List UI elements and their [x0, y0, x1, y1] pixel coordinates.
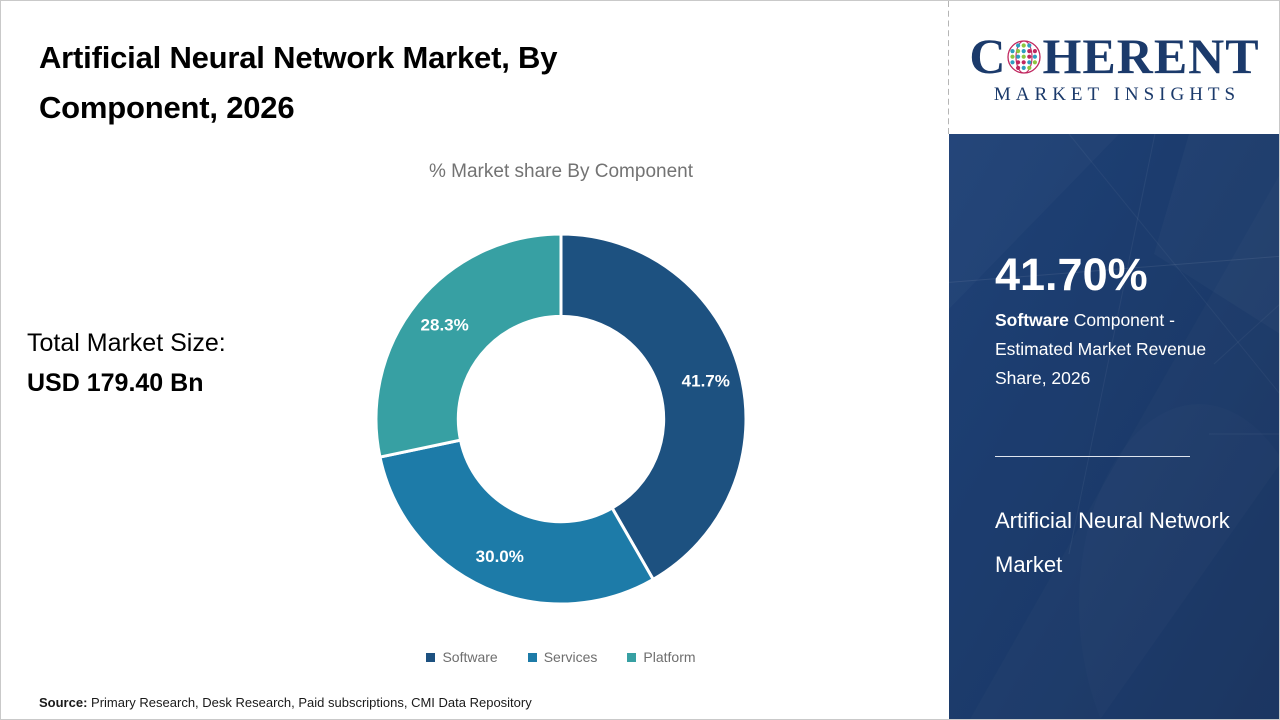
donut-chart-svg: 41.7%30.0%28.3%: [371, 229, 751, 609]
donut-chart: 41.7%30.0%28.3%: [371, 229, 751, 609]
source-text: Primary Research, Desk Research, Paid su…: [87, 695, 531, 710]
side-market-name: Artificial Neural Network Market: [995, 499, 1255, 587]
brand-logo: C HERENT MARKET INSIGHTS: [949, 1, 1280, 134]
legend-item-services[interactable]: Services: [528, 649, 598, 665]
source-label: Source:: [39, 695, 87, 710]
logo-letter-c: C: [969, 31, 1006, 81]
chart-subtitle: % Market share By Component: [241, 161, 881, 183]
legend-label-software: Software: [442, 649, 497, 665]
legend-item-platform[interactable]: Platform: [627, 649, 695, 665]
chart-legend: SoftwareServicesPlatform: [241, 649, 881, 665]
total-market-size-value: USD 179.40 Bn: [27, 363, 327, 403]
logo-wordmark: C HERENT: [969, 30, 1259, 82]
side-panel: C HERENT MARKET INSIGHTS: [949, 1, 1280, 720]
slice-label-software: 41.7%: [682, 371, 730, 390]
legend-item-software[interactable]: Software: [426, 649, 497, 665]
slice-label-services: 30.0%: [476, 547, 524, 566]
legend-swatch-services: [528, 653, 537, 662]
legend-label-platform: Platform: [643, 649, 695, 665]
donut-slice-platform: [376, 234, 561, 457]
side-divider-rule: [995, 456, 1190, 457]
donut-slices: [376, 234, 746, 604]
legend-swatch-software: [426, 653, 435, 662]
background-art: [949, 134, 1280, 720]
logo-word-rest: HERENT: [1042, 31, 1259, 81]
total-market-size: Total Market Size: USD 179.40 Bn: [27, 323, 327, 403]
stat-description: Software Component - Estimated Market Re…: [995, 306, 1245, 393]
source-note: Source: Primary Research, Desk Research,…: [39, 695, 532, 710]
page-title: Artificial Neural Network Market, By Com…: [39, 33, 739, 133]
legend-label-services: Services: [544, 649, 598, 665]
stat-percent: 41.70%: [995, 252, 1148, 297]
legend-swatch-platform: [627, 653, 636, 662]
total-market-size-label: Total Market Size:: [27, 323, 327, 363]
side-panel-body: 41.70% Software Component - Estimated Ma…: [949, 134, 1280, 720]
globe-icon: [1007, 40, 1041, 74]
main-chart-panel: Artificial Neural Network Market, By Com…: [1, 1, 949, 720]
slice-label-platform: 28.3%: [421, 316, 469, 335]
logo-tagline: MARKET INSIGHTS: [989, 84, 1240, 106]
donut-slice-services: [380, 440, 653, 604]
infographic-page: Artificial Neural Network Market, By Com…: [0, 0, 1280, 720]
stat-description-bold: Software: [995, 310, 1069, 330]
